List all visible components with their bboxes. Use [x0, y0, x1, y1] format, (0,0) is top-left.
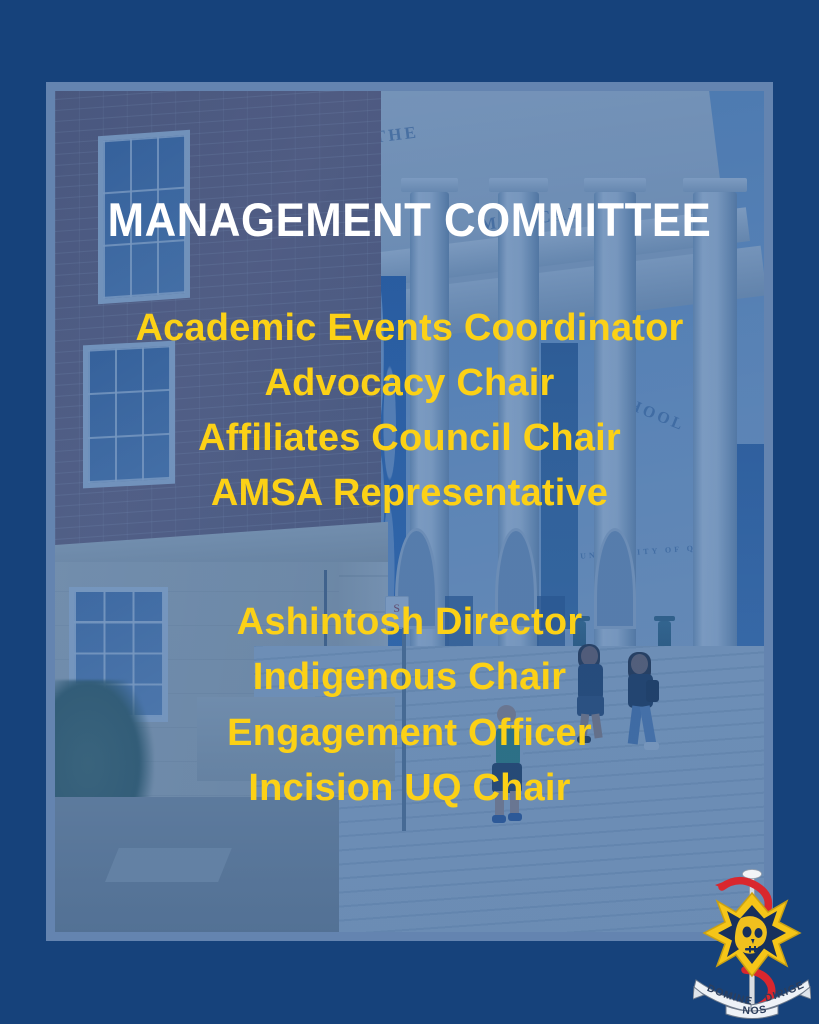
- uqms-crest-logo: DOMINE DIRIGE NOS: [693, 862, 811, 1022]
- svg-text:NOS: NOS: [742, 1003, 768, 1017]
- role-item: Academic Events Coordinator: [46, 301, 773, 356]
- role-list-group-1: Academic Events Coordinator Advocacy Cha…: [46, 301, 773, 521]
- role-item: Advocacy Chair: [46, 356, 773, 411]
- role-item: Incision UQ Chair: [46, 761, 773, 816]
- role-item: Engagement Officer: [46, 706, 773, 761]
- role-item: Affiliates Council Chair: [46, 411, 773, 466]
- text-overlay: MANAGEMENT COMMITTEE Academic Events Coo…: [46, 82, 773, 941]
- role-list-group-2: Ashintosh Director Indigenous Chair Enga…: [46, 595, 773, 815]
- role-item: AMSA Representative: [46, 466, 773, 521]
- role-item: Indigenous Chair: [46, 650, 773, 705]
- page-title: MANAGEMENT COMMITTEE: [71, 82, 747, 243]
- poster-root: THE MEDICAL SCHOOL UNIVERSITY OF QUEENSL…: [0, 0, 819, 1024]
- role-item: Ashintosh Director: [46, 595, 773, 650]
- motto-center: NOS: [742, 1003, 768, 1017]
